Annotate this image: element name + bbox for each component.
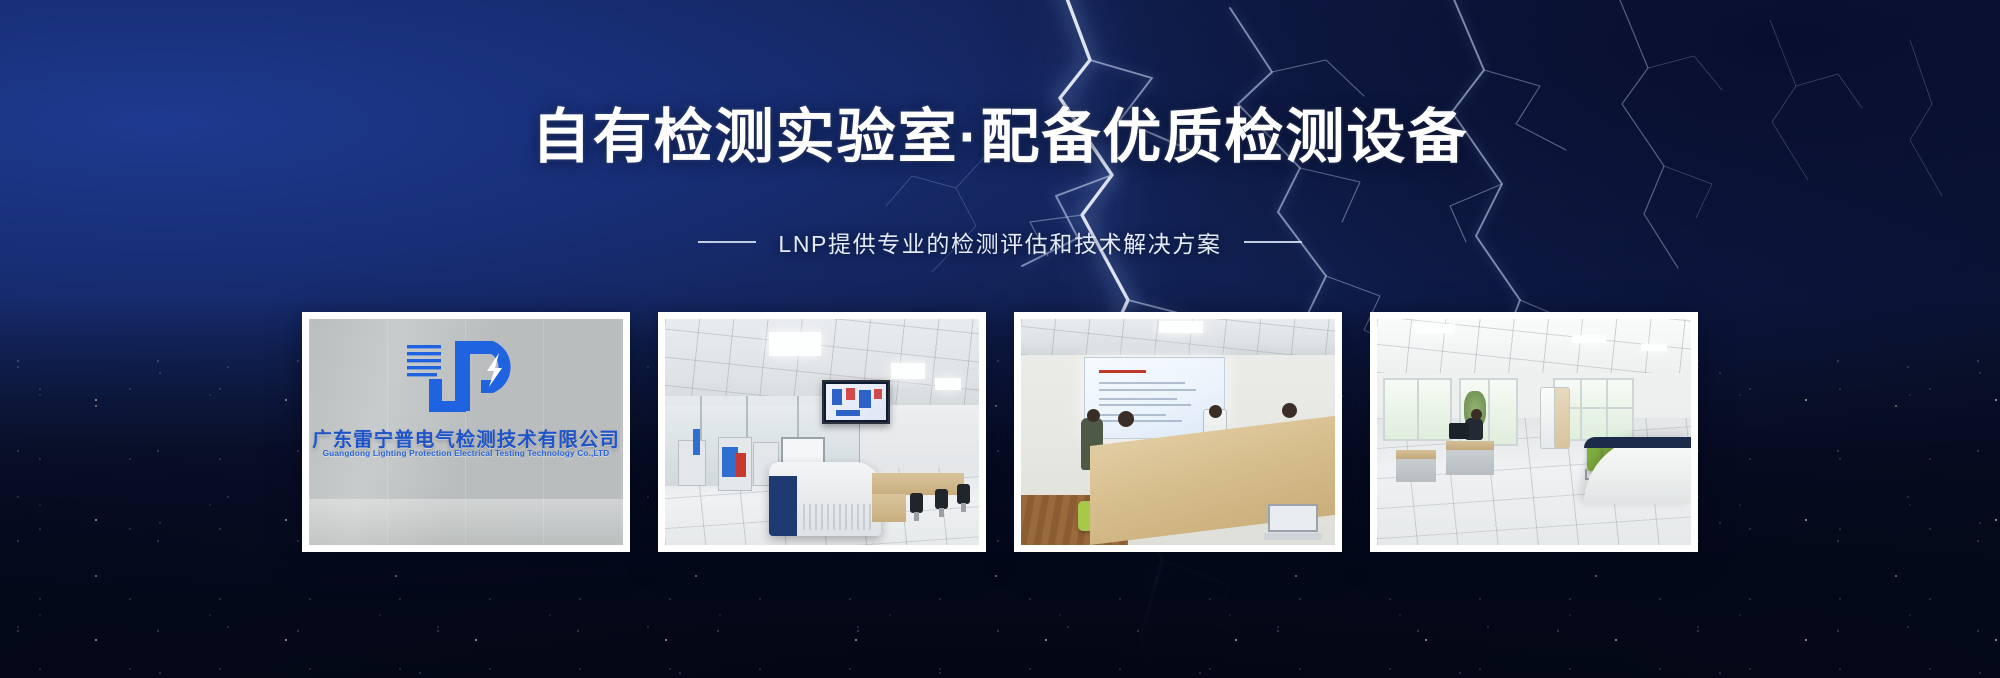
office-ceiling: [1377, 319, 1691, 373]
ceiling-light-3: [935, 378, 961, 390]
wall-base-band: [309, 499, 623, 545]
lnp-logo-icon: [399, 339, 533, 413]
office-desk-main: [1446, 441, 1494, 475]
reception-counter-top: [1584, 437, 1691, 448]
office-shelf-unit: [1554, 387, 1570, 449]
office-desk-top: [1446, 441, 1494, 450]
screen-block-2: [846, 388, 855, 400]
reception-counter: [1584, 437, 1691, 505]
lab-desk-cabinet: [872, 494, 906, 522]
console-vents: [803, 504, 873, 530]
lab-desk-row: [872, 473, 964, 495]
office-scene: [1377, 319, 1691, 545]
company-name-en: Guangdong Lighting Protection Electrical…: [309, 449, 623, 458]
screen-block-5: [836, 410, 860, 416]
office-glass-partition: [1383, 378, 1452, 441]
lab-control-console: [769, 462, 881, 536]
ceiling-light-2: [891, 363, 925, 379]
equipment-blue-2: [693, 429, 700, 455]
banner-headline: 自有检测实验室·配备优质检测设备: [0, 104, 2000, 170]
lab-chair-2: [935, 489, 948, 509]
banner-subtitle-row: LNP提供专业的检测评估和技术解决方案: [0, 225, 2000, 259]
rule-left-icon: [698, 241, 756, 243]
partition-mullion: [1417, 380, 1419, 439]
window-left-mullion: [1488, 380, 1490, 444]
laptop-screen: [1268, 504, 1318, 532]
photo-office-reception[interactable]: [1370, 312, 1698, 552]
office-light-1: [1415, 324, 1455, 333]
slide-title-line: [1099, 370, 1146, 373]
banner-stage: 自有检测实验室·配备优质检测设备 LNP提供专业的检测评估和技术解决方案: [0, 0, 2000, 678]
slide-line-1: [1099, 382, 1185, 384]
screen-block-4: [874, 389, 882, 399]
photo-testing-laboratory[interactable]: [658, 312, 986, 552]
office-desk-side: [1396, 450, 1436, 482]
photo-strip: 广东雷宁普电气检测技术有限公司 Guangdong Lighting Prote…: [0, 312, 2000, 552]
screen-block-3: [859, 390, 871, 408]
equipment-red-1: [736, 453, 746, 477]
window-right-mullion-2: [1606, 380, 1608, 439]
rule-right-icon: [1244, 241, 1302, 243]
photo-company-signage[interactable]: 广东雷宁普电气检测技术有限公司 Guangdong Lighting Prote…: [302, 312, 630, 552]
laptop-on-table: [1264, 504, 1322, 540]
banner-subtitle: LNP提供专业的检测评估和技术解决方案: [778, 225, 1221, 259]
signage-wall: 广东雷宁普电气检测技术有限公司 Guangdong Lighting Prote…: [309, 319, 623, 545]
slide-line-3: [1099, 398, 1177, 400]
meeting-room-scene: [1021, 319, 1335, 545]
laptop-keyboard: [1264, 533, 1322, 540]
lab-rack-1: [678, 440, 706, 486]
office-desk-side-top: [1396, 450, 1436, 459]
office-light-3: [1641, 344, 1667, 351]
ceiling-light-1: [769, 332, 821, 356]
lab-chair-1: [910, 493, 923, 513]
photo-meeting-training-room[interactable]: [1014, 312, 1342, 552]
wall-mounted-display: [822, 380, 890, 424]
meeting-ceiling: [1021, 319, 1335, 355]
office-light-2: [1572, 335, 1606, 343]
meeting-ceiling-light: [1159, 321, 1203, 333]
display-screen: [826, 384, 886, 420]
screen-block-1: [832, 389, 842, 405]
slide-line-2: [1099, 389, 1197, 391]
laboratory-scene: [665, 319, 979, 545]
company-name-cn: 广东雷宁普电气检测技术有限公司: [309, 423, 623, 452]
lab-room: [665, 319, 979, 545]
office-monitor: [1449, 423, 1469, 439]
console-navy-panel: [769, 476, 797, 536]
lab-chair-3: [957, 484, 970, 504]
window-right-mullion-1: [1580, 380, 1582, 439]
slide-line-6: [1099, 420, 1183, 422]
slide-line-4: [1099, 404, 1191, 406]
